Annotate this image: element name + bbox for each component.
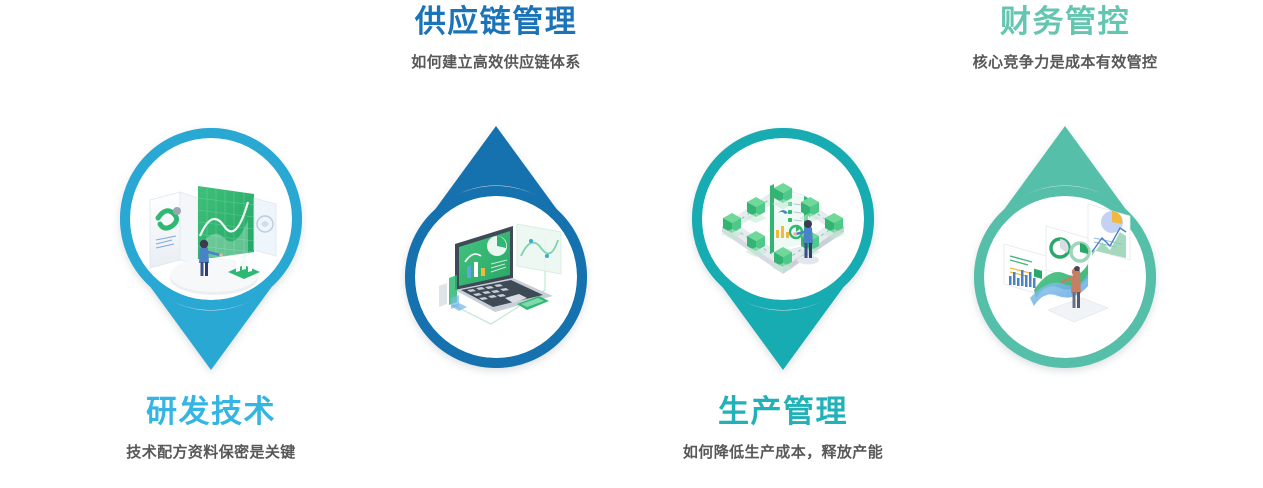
pin-card-production-management[interactable]: 生产管理如何降低生产成本，释放产能 bbox=[625, 0, 941, 488]
pin-card-rd-technology[interactable]: 研发技术技术配方资料保密是关键 bbox=[53, 0, 369, 488]
card-subtitle-supply-chain: 如何建立高效供应链体系 bbox=[338, 51, 654, 72]
infographic-stage: 研发技术技术配方资料保密是关键 bbox=[0, 0, 1263, 488]
label-group-production-management: 生产管理如何降低生产成本，释放产能 bbox=[625, 396, 941, 462]
finance-dashboard-illustration bbox=[990, 186, 1140, 336]
research-lab-dashboard-illustration bbox=[136, 164, 286, 314]
label-group-financial-control: 财务管控核心竞争力是成本有效管控 bbox=[907, 6, 1223, 72]
label-group-supply-chain: 供应链管理如何建立高效供应链体系 bbox=[338, 6, 654, 72]
card-title-production-management: 生产管理 bbox=[625, 396, 941, 429]
pin-marker-supply-icon[interactable] bbox=[381, 118, 611, 378]
production-line-blocks-illustration bbox=[708, 164, 858, 314]
pin-marker-rd-icon[interactable] bbox=[96, 118, 326, 378]
card-title-financial-control: 财务管控 bbox=[907, 6, 1223, 39]
pin-marker-production-icon[interactable] bbox=[668, 118, 898, 378]
laptop-analytics-illustration bbox=[421, 186, 571, 336]
pin-card-financial-control[interactable]: 财务管控核心竞争力是成本有效管控 bbox=[907, 0, 1223, 488]
card-title-supply-chain: 供应链管理 bbox=[338, 6, 654, 39]
pin-card-supply-chain[interactable]: 供应链管理如何建立高效供应链体系 bbox=[338, 0, 654, 488]
pin-marker-finance-icon[interactable] bbox=[950, 118, 1180, 378]
card-subtitle-production-management: 如何降低生产成本，释放产能 bbox=[625, 441, 941, 462]
card-subtitle-rd-technology: 技术配方资料保密是关键 bbox=[53, 441, 369, 462]
card-title-rd-technology: 研发技术 bbox=[53, 396, 369, 429]
label-group-rd-technology: 研发技术技术配方资料保密是关键 bbox=[53, 396, 369, 462]
card-subtitle-financial-control: 核心竞争力是成本有效管控 bbox=[907, 51, 1223, 72]
